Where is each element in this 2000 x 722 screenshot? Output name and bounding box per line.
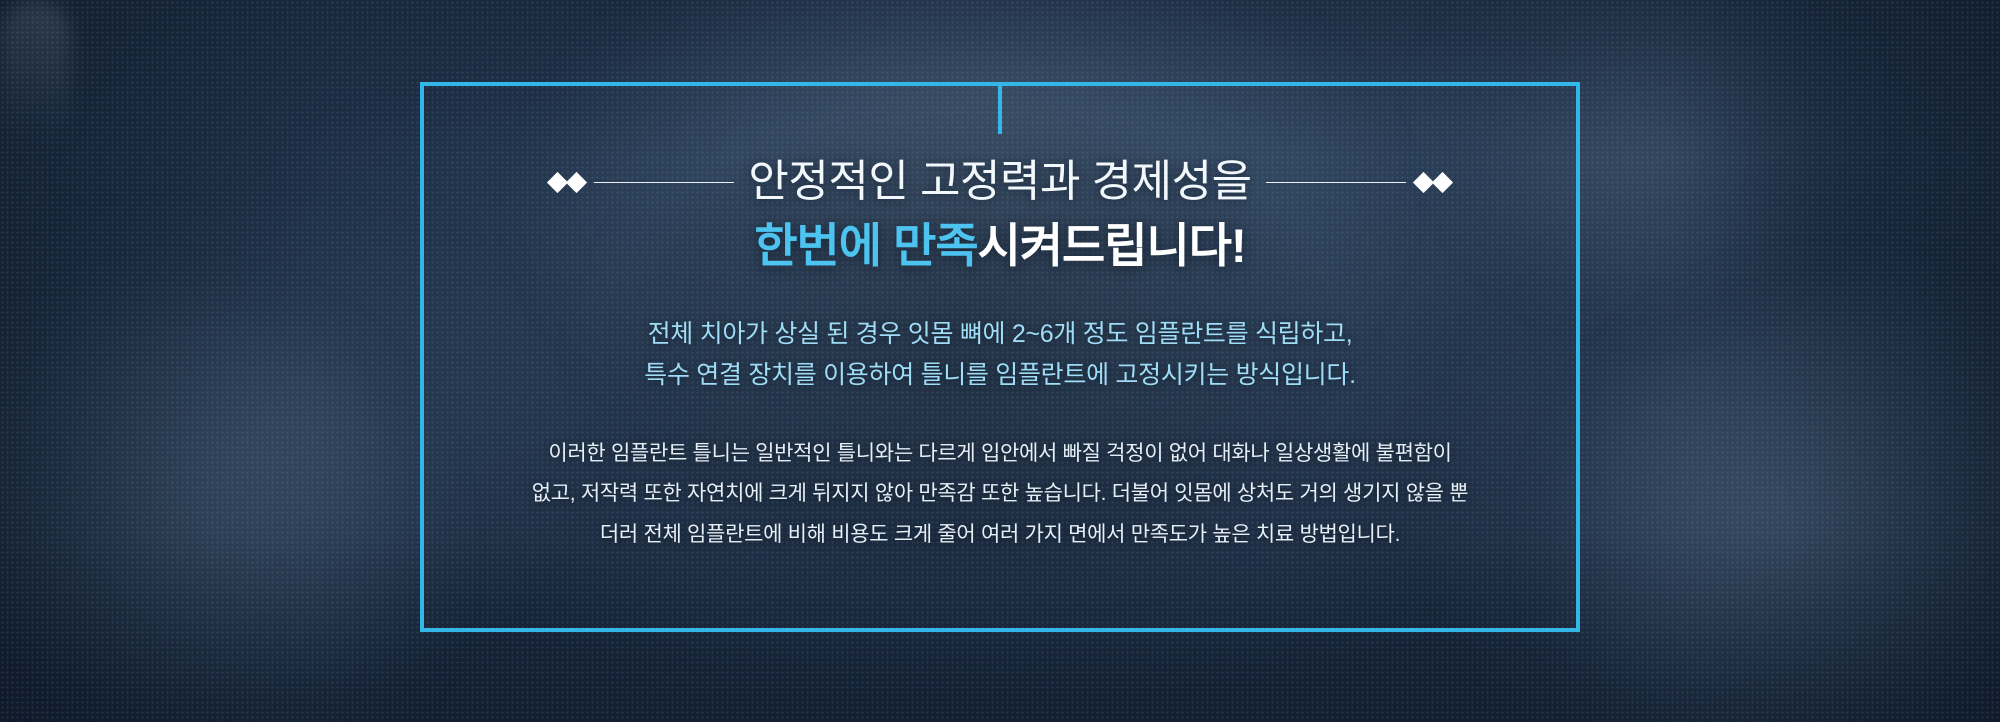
right-diamond-ornament bbox=[1266, 175, 1452, 190]
headline-rest-text: 시켜드립니다! bbox=[978, 219, 1246, 272]
body-line-3: 더러 전체 임플란트에 비해 비용도 크게 줄어 여러 가지 면에서 만족도가 … bbox=[460, 515, 1540, 555]
diamond-icon bbox=[1432, 171, 1453, 192]
headline-line-2: 한번에 만족시켜드립니다! bbox=[420, 222, 1580, 269]
diamond-icon bbox=[566, 171, 587, 192]
horizontal-rule-divider bbox=[1266, 182, 1406, 183]
body-line-1: 이러한 임플란트 틀니는 일반적인 틀니와는 다르게 입안에서 빠질 걱정이 없… bbox=[460, 434, 1540, 474]
horizontal-rule-divider bbox=[594, 182, 734, 183]
left-diamond-ornament bbox=[548, 175, 734, 190]
body-copy-block: 이러한 임플란트 틀니는 일반적인 틀니와는 다르게 입안에서 빠질 걱정이 없… bbox=[460, 434, 1540, 555]
subtitle-line-1: 전체 치아가 상실 된 경우 잇몸 뼈에 2~6개 정도 임플란트를 식립하고, bbox=[420, 314, 1580, 355]
subtitle-block: 전체 치아가 상실 된 경우 잇몸 뼈에 2~6개 정도 임플란트를 식립하고,… bbox=[420, 314, 1580, 395]
body-line-2: 없고, 저작력 또한 자연치에 크게 뒤지지 않아 만족감 또한 높습니다. 더… bbox=[460, 474, 1540, 514]
headline-line-1: 안정적인 고정력과 경제성을 bbox=[748, 160, 1251, 204]
banner-content: 안정적인 고정력과 경제성을 한번에 만족시켜드립니다! 전체 치아가 상실 된… bbox=[420, 82, 1580, 632]
subtitle-line-2: 특수 연결 장치를 이용하여 틀니를 임플란트에 고정시키는 방식입니다. bbox=[420, 355, 1580, 396]
dental-implant-denture-banner: 안정적인 고정력과 경제성을 한번에 만족시켜드립니다! 전체 치아가 상실 된… bbox=[0, 0, 2000, 722]
headline-primary-row: 안정적인 고정력과 경제성을 bbox=[420, 160, 1580, 204]
headline-highlight-text: 한번에 만족 bbox=[754, 219, 977, 272]
